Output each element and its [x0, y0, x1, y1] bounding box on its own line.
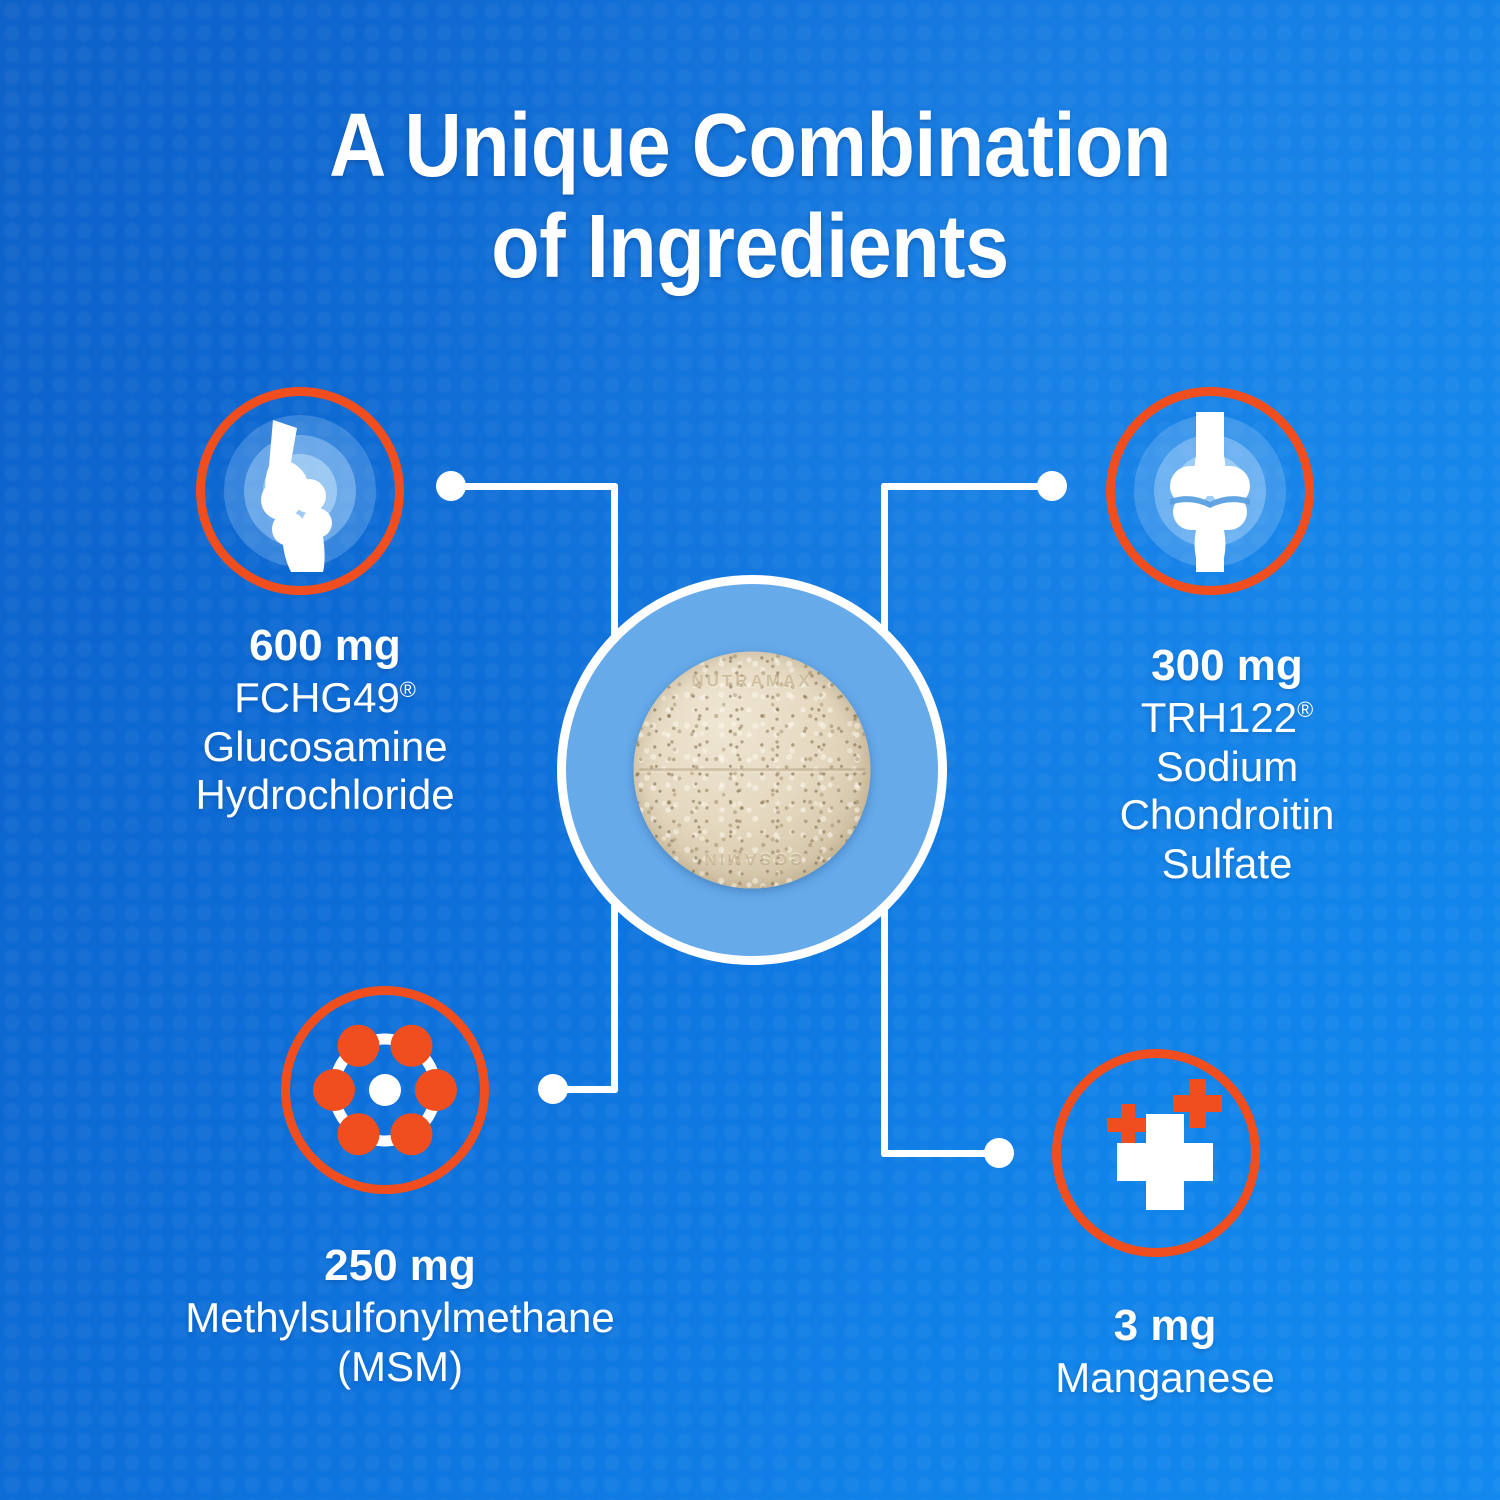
medical-plus-cross-icon — [1061, 1058, 1251, 1248]
connector-dot-bottom-left — [538, 1074, 568, 1104]
connector-line-top-left-horizontal — [458, 483, 618, 490]
page-title: A Unique Combination of Ingredients — [90, 96, 1410, 298]
name-glucosamine-line-1: FCHG49® — [60, 674, 590, 723]
label-chondroitin: 300 mg TRH122® Sodium Chondroitin Sulfat… — [1012, 640, 1442, 889]
registered-trademark-symbol: ® — [1297, 697, 1313, 722]
name-chondroitin: TRH122® Sodium Chondroitin Sulfate — [1012, 694, 1442, 889]
badge-chondroitin — [1106, 387, 1314, 595]
center-tablet-circle: NUTRAMAX COSAMIN — [557, 575, 947, 965]
tablet-emboss-bottom: COSAMIN — [634, 849, 871, 869]
registered-trademark-symbol: ® — [400, 677, 416, 702]
name-msm: Methylsulfonylmethane (MSM) — [60, 1294, 740, 1391]
name-chondroitin-line-3: Chondroitin — [1012, 791, 1442, 840]
connector-dot-bottom-right — [984, 1138, 1014, 1168]
tablet-score-line — [638, 768, 866, 772]
badge-glucosamine — [196, 387, 404, 595]
name-manganese: Manganese — [950, 1354, 1380, 1403]
name-manganese-line-1: Manganese — [950, 1354, 1380, 1403]
amount-glucosamine: 600 mg — [60, 620, 590, 672]
name-glucosamine-line-3: Hydrochloride — [60, 771, 590, 820]
infographic-canvas: A Unique Combination of Ingredients — [0, 0, 1500, 1500]
name-chondroitin-line-4: Sulfate — [1012, 840, 1442, 889]
name-chondroitin-line-2: Sodium — [1012, 743, 1442, 792]
label-glucosamine: 600 mg FCHG49® Glucosamine Hydrochloride — [60, 620, 590, 820]
vertical-joint-bone-icon — [1115, 396, 1305, 586]
connector-dot-top-right — [1037, 471, 1067, 501]
amount-manganese: 3 mg — [950, 1300, 1380, 1352]
connector-line-bottom-left-vertical — [611, 880, 618, 1093]
amount-msm: 250 mg — [60, 1240, 740, 1292]
name-chondroitin-line-1: TRH122® — [1012, 694, 1442, 743]
connector-line-bottom-right-vertical — [881, 880, 888, 1157]
title-line-1: A Unique Combination — [90, 96, 1410, 197]
name-glucosamine: FCHG49® Glucosamine Hydrochloride — [60, 674, 590, 820]
tablet-emboss-top: NUTRAMAX — [634, 672, 871, 692]
label-msm: 250 mg Methylsulfonylmethane (MSM) — [60, 1240, 740, 1391]
name-msm-line-2: (MSM) — [60, 1343, 740, 1392]
amount-chondroitin: 300 mg — [1012, 640, 1442, 692]
label-manganese: 3 mg Manganese — [950, 1300, 1380, 1403]
badge-msm — [281, 986, 489, 1194]
name-msm-line-1: Methylsulfonylmethane — [60, 1294, 740, 1343]
badge-manganese — [1052, 1049, 1260, 1257]
name-glucosamine-line-2: Glucosamine — [60, 723, 590, 772]
molecule-atom-icon — [290, 995, 480, 1185]
knee-joint-bone-icon — [205, 396, 395, 586]
title-line-2: of Ingredients — [90, 197, 1410, 298]
tablet-image: NUTRAMAX COSAMIN — [634, 652, 871, 889]
connector-line-top-right-horizontal — [881, 483, 1049, 490]
